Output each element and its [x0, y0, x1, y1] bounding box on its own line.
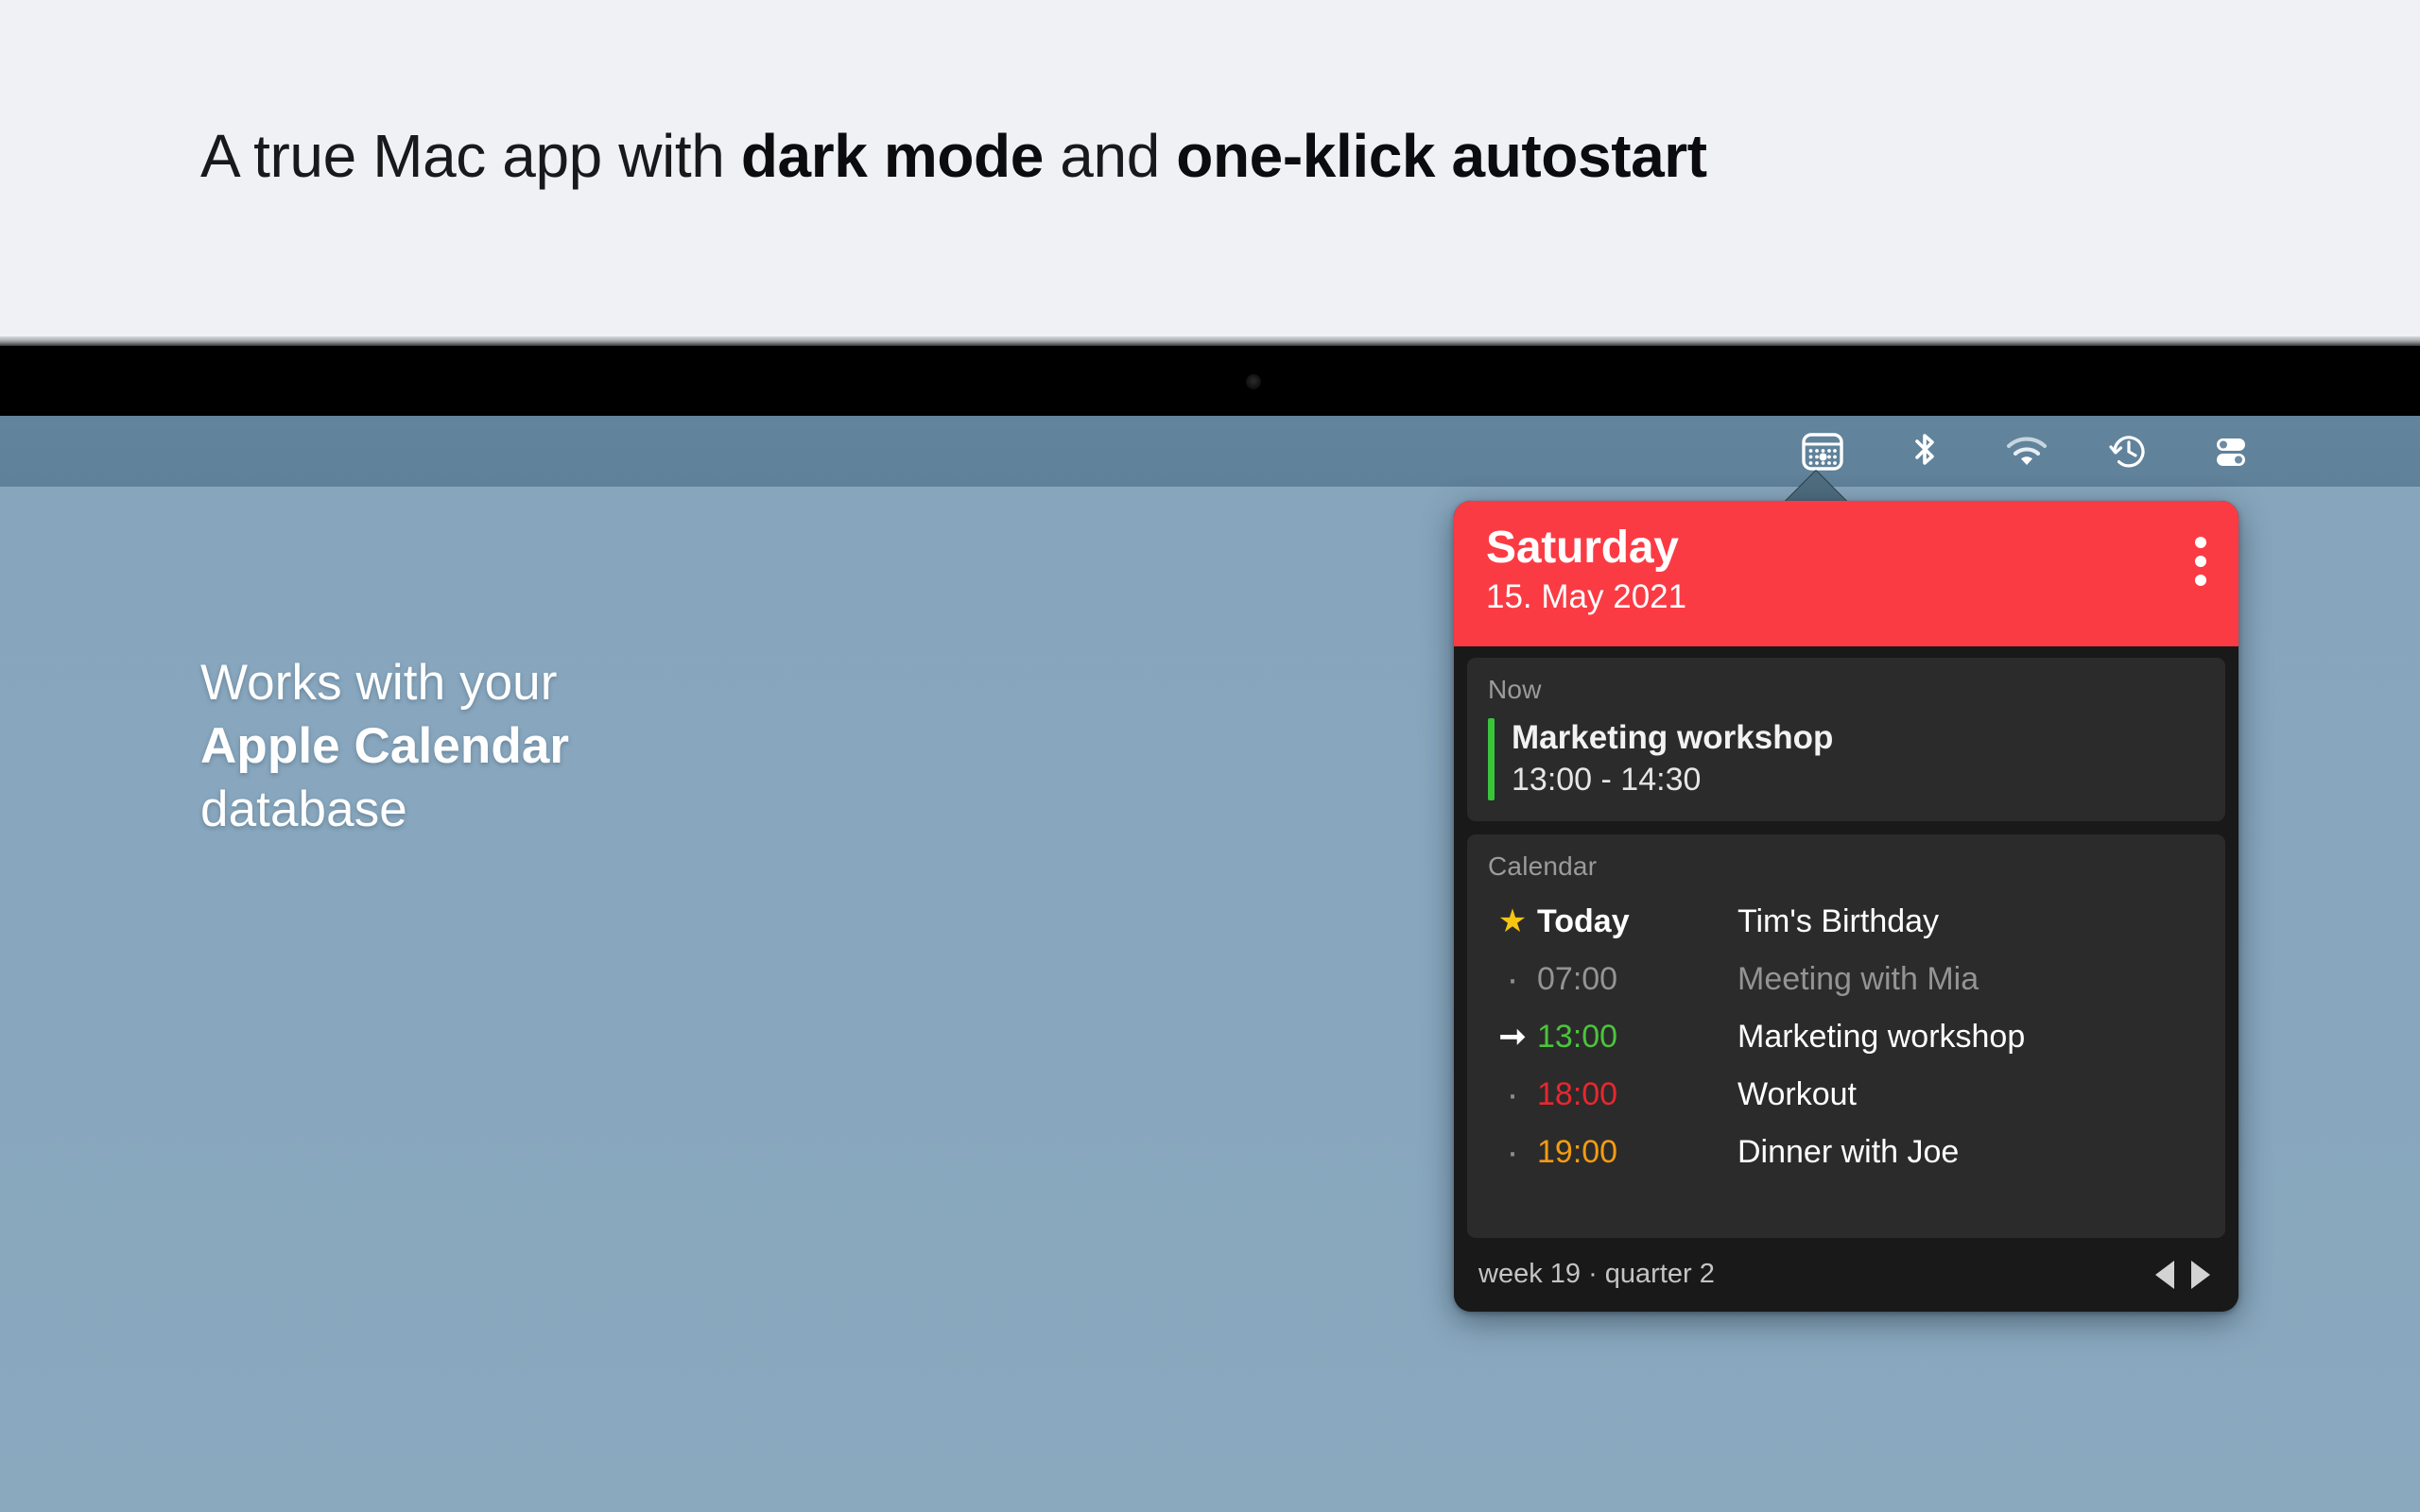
- event-row[interactable]: · 19:00 Dinner with Joe: [1488, 1124, 2204, 1181]
- headline-bold-1: dark mode: [741, 122, 1044, 190]
- marketing-banner: A true Mac app with dark mode and one-kl…: [0, 0, 2420, 336]
- now-section-title: Now: [1488, 675, 2204, 705]
- event-time: 07:00: [1537, 961, 1737, 998]
- event-time: 18:00: [1537, 1076, 1737, 1113]
- bluetooth-icon: [1905, 430, 1945, 473]
- event-title: Workout: [1737, 1076, 1857, 1113]
- kebab-dot-2: [2195, 556, 2206, 567]
- popover-header: Saturday 15. May 2021: [1454, 501, 2238, 646]
- event-row[interactable]: ➞ 13:00 Marketing workshop: [1488, 1008, 2204, 1066]
- tagline-line-2: Apple Calendar: [200, 715, 569, 779]
- desktop-tagline: Works with your Apple Calendar database: [200, 652, 569, 841]
- popover-body: Now Marketing workshop 13:00 - 14:30 Cal…: [1454, 646, 2238, 1238]
- triangle-right-icon[interactable]: [2191, 1261, 2210, 1289]
- event-time: 13:00: [1537, 1019, 1737, 1056]
- dot-icon: ·: [1488, 1075, 1537, 1113]
- macos-menu-bar: [0, 416, 2420, 487]
- calendar-popover: Saturday 15. May 2021 Now: [1454, 501, 2238, 1312]
- event-time: Today: [1537, 903, 1737, 940]
- now-card: Now Marketing workshop 13:00 - 14:30: [1467, 658, 2225, 821]
- calendar-icon: [1801, 430, 1844, 473]
- header-date: 15. May 2021: [1486, 576, 2206, 618]
- kebab-dot-3: [2195, 575, 2206, 586]
- headline-text-1: A true Mac app with: [200, 122, 741, 190]
- event-row[interactable]: · 18:00 Workout: [1488, 1066, 2204, 1124]
- page-root: A true Mac app with dark mode and one-kl…: [0, 0, 2420, 1512]
- event-time: 19:00: [1537, 1134, 1737, 1171]
- time-machine-icon: [2107, 430, 2151, 473]
- tagline-line-1: Works with your: [200, 652, 569, 715]
- headline-bold-2: one-klick autostart: [1176, 122, 1706, 190]
- control-center-icon: [2208, 430, 2254, 473]
- tagline-line-3: database: [200, 779, 569, 842]
- event-title: Dinner with Joe: [1737, 1134, 1959, 1171]
- header-weekday: Saturday: [1486, 525, 2206, 572]
- event-title: Marketing workshop: [1737, 1019, 2025, 1056]
- event-list: ★ Today Tim's Birthday · 07:00 Meeting w…: [1488, 893, 2204, 1181]
- kebab-dot-1: [2195, 537, 2206, 548]
- webcam-icon: [1246, 374, 1261, 389]
- calendar-popover-wrapper: Saturday 15. May 2021 Now: [1454, 501, 2238, 1312]
- now-event-accent-bar: [1488, 718, 1495, 800]
- calendar-card: Calendar ★ Today Tim's Birthday · 07:00 …: [1467, 834, 2225, 1238]
- event-title: Meeting with Mia: [1737, 961, 1979, 998]
- menu-bar-item-control-center[interactable]: [2180, 416, 2282, 487]
- laptop-top-edge: [0, 336, 2420, 346]
- kebab-menu-icon[interactable]: [2195, 537, 2206, 586]
- now-event-time: 13:00 - 14:30: [1512, 760, 1833, 800]
- menu-bar-item-bluetooth[interactable]: [1874, 416, 1976, 487]
- triangle-left-icon[interactable]: [2155, 1261, 2174, 1289]
- popover-footer: week 19 · quarter 2: [1454, 1238, 2238, 1312]
- star-icon: ★: [1488, 905, 1537, 937]
- menu-bar-item-wifi[interactable]: [1976, 416, 2078, 487]
- now-event[interactable]: Marketing workshop 13:00 - 14:30: [1488, 718, 2204, 800]
- now-event-title: Marketing workshop: [1512, 718, 1833, 757]
- footer-navigation: [2155, 1261, 2210, 1289]
- arrow-right-icon: ➞: [1488, 1021, 1537, 1053]
- calendar-section-title: Calendar: [1488, 851, 2204, 882]
- event-row[interactable]: · 07:00 Meeting with Mia: [1488, 951, 2204, 1008]
- headline-text-2: and: [1044, 122, 1176, 190]
- laptop-bezel: [0, 346, 2420, 416]
- week-quarter-label: week 19 · quarter 2: [1478, 1259, 1715, 1290]
- popover-pointer-arrow: [1785, 471, 1847, 502]
- desktop-screen: Works with your Apple Calendar database …: [0, 416, 2420, 1512]
- menu-bar-item-time-machine[interactable]: [2078, 416, 2180, 487]
- banner-headline: A true Mac app with dark mode and one-kl…: [200, 125, 1707, 188]
- event-row[interactable]: ★ Today Tim's Birthday: [1488, 893, 2204, 951]
- event-title: Tim's Birthday: [1737, 903, 1939, 940]
- dot-icon: ·: [1488, 1133, 1537, 1171]
- wifi-icon: [2003, 430, 2050, 473]
- dot-icon: ·: [1488, 960, 1537, 998]
